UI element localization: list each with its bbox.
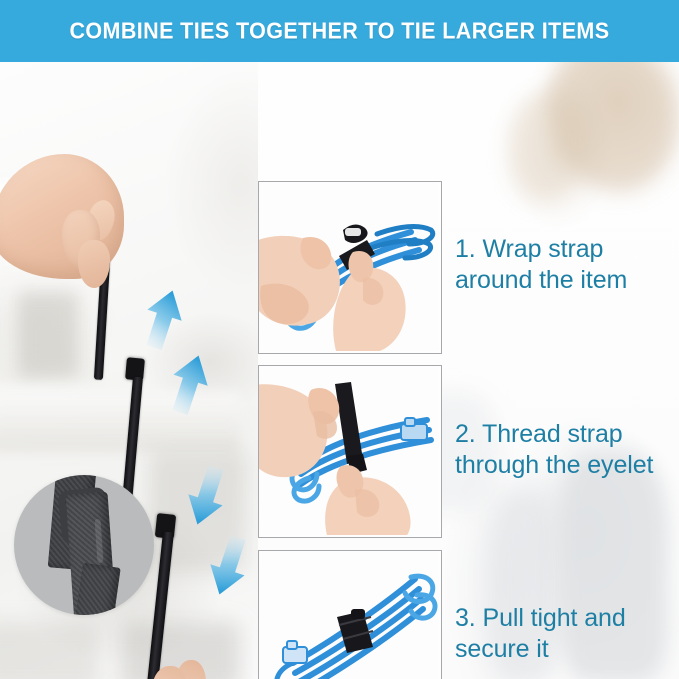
step-3-label: 3. Pull tight and secure it <box>455 603 670 665</box>
infographic-page: COMBINE TIES TOGETHER TO TIE LARGER ITEM… <box>0 0 679 679</box>
content-area: 1. Wrap strap around the item 2. Thread … <box>0 62 679 679</box>
down-arrow-1-icon <box>184 462 230 528</box>
banner-title: COMBINE TIES TOGETHER TO TIE LARGER ITEM… <box>69 18 609 45</box>
step-1-label: 1. Wrap strap around the item <box>455 234 670 296</box>
step-1-photo-panel <box>258 181 442 354</box>
step-2-line-1: 2. Thread strap <box>455 419 670 450</box>
step-2-photo <box>259 366 441 537</box>
step-3-line-2: secure it <box>455 634 670 665</box>
step-1-line-1: 1. Wrap strap <box>455 234 670 265</box>
step-3-line-1: 3. Pull tight and <box>455 603 670 634</box>
step-2-label: 2. Thread strap through the eyelet <box>455 419 670 481</box>
step-3-photo-panel <box>258 550 442 679</box>
blurred-shape-2 <box>508 92 588 202</box>
step-3-photo <box>259 551 441 679</box>
header-banner: COMBINE TIES TOGETHER TO TIE LARGER ITEM… <box>0 0 679 62</box>
up-arrow-1-icon <box>140 287 186 353</box>
combined-straps-photo <box>0 62 258 679</box>
strap-connection-detail-inset <box>14 475 154 615</box>
down-arrow-2-icon <box>206 532 252 598</box>
step-2-photo-panel <box>258 365 442 538</box>
up-arrow-2-icon <box>166 352 212 418</box>
step-1-photo <box>259 182 441 353</box>
blurred-background-shape-4 <box>0 622 100 679</box>
step-1-line-2: around the item <box>455 265 670 296</box>
blurred-background-shape-1 <box>18 292 78 377</box>
step-2-line-2: through the eyelet <box>455 450 670 481</box>
